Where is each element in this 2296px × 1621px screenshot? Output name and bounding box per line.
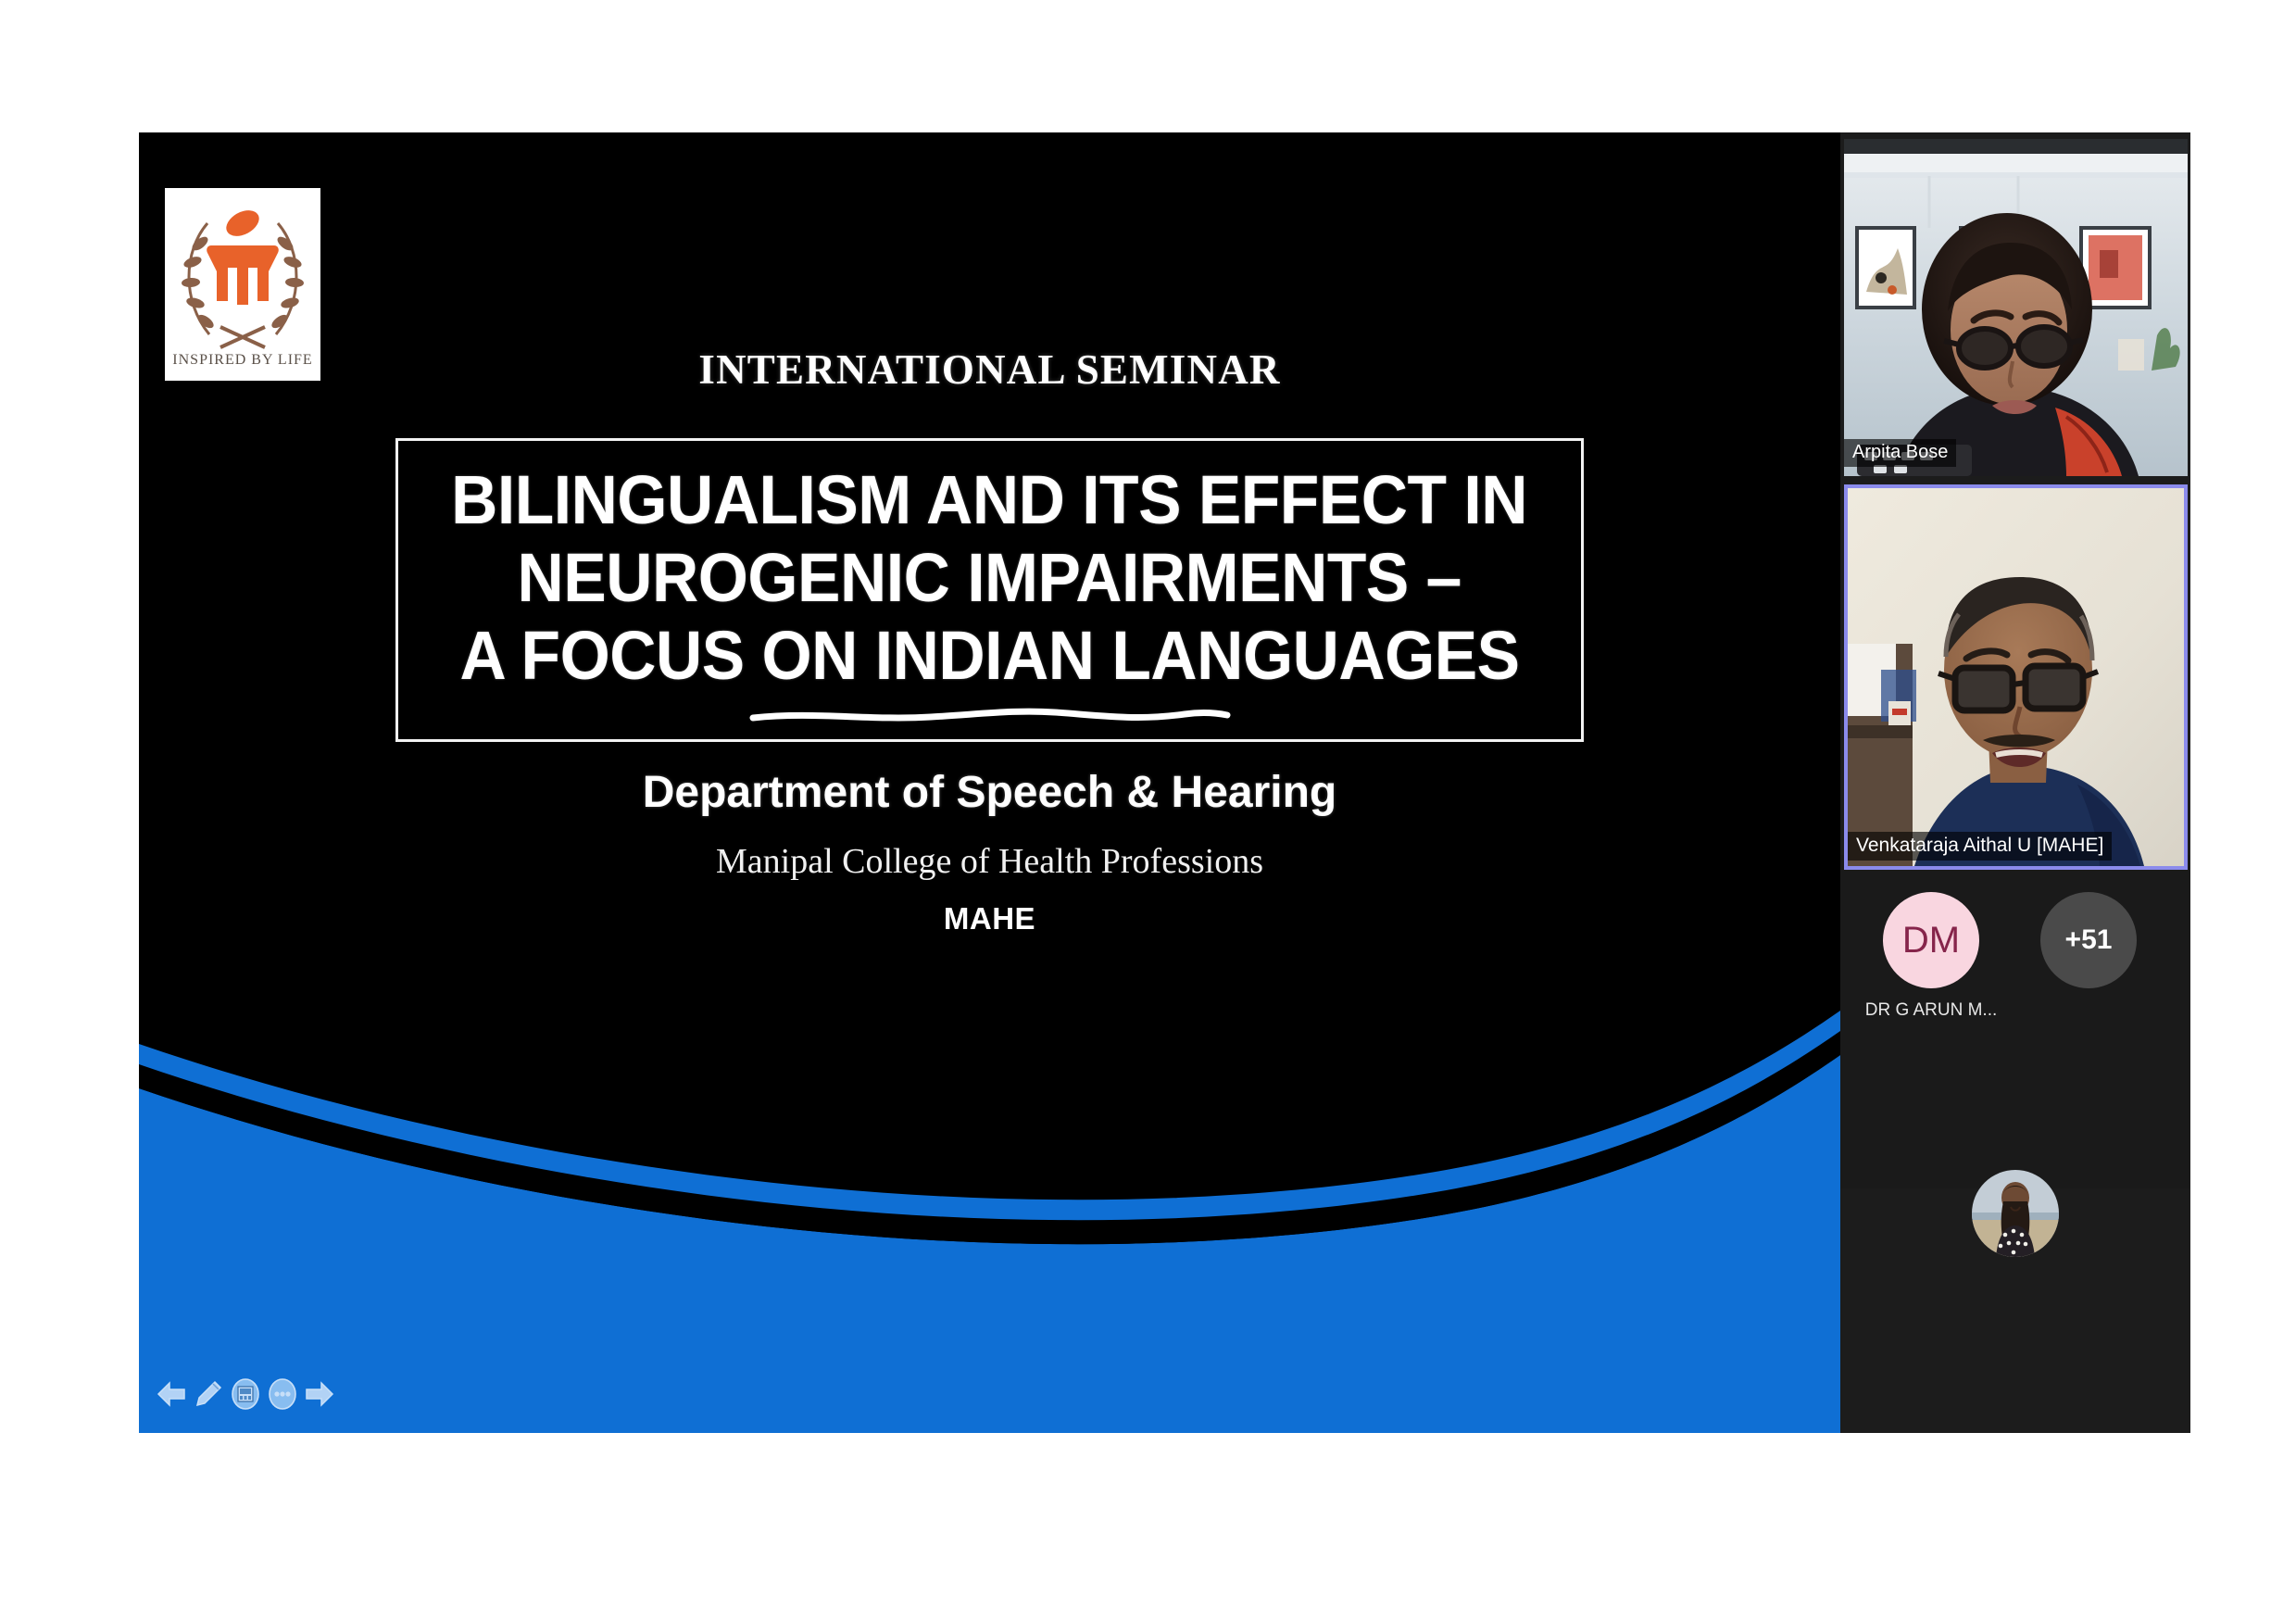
slide-title-line-2: NEUROGENIC IMPAIRMENTS – — [518, 539, 1462, 617]
slide-institution-line: MAHE — [139, 901, 1840, 936]
participant-video-feed — [1844, 139, 2188, 476]
overflow-count-badge: +51 — [2040, 892, 2137, 988]
participant-video-tile-active-speaker[interactable]: Venkataraja Aithal U [MAHE] — [1844, 484, 2188, 870]
title-underline-decoration — [749, 706, 1231, 726]
all-slides-button[interactable] — [228, 1376, 263, 1413]
slide-title-line-3: A FOCUS ON INDIAN LANGUAGES — [459, 617, 1519, 695]
next-slide-button[interactable] — [302, 1376, 337, 1413]
slide-college-line: Manipal College of Health Professions — [139, 841, 1840, 882]
presentation-slide[interactable]: INSPIRED BY LIFE INTERNATIONAL SEMINAR B… — [139, 132, 1840, 1433]
previous-slide-button[interactable] — [154, 1376, 189, 1413]
meeting-stage: INSPIRED BY LIFE INTERNATIONAL SEMINAR B… — [139, 132, 2190, 1433]
participant-avatar-tile[interactable]: DM DR G ARUN M... — [1866, 892, 1996, 1021]
participant-avatar-row: DM DR G ARUN M... +51 — [1840, 892, 2190, 1021]
slide-department-line: Department of Speech & Hearing — [139, 767, 1840, 818]
participant-video-tile[interactable]: Arpita Bose — [1844, 139, 2188, 476]
shared-screen-region[interactable]: INSPIRED BY LIFE INTERNATIONAL SEMINAR B… — [139, 132, 1840, 1433]
slideshow-control-bar[interactable] — [154, 1376, 337, 1413]
slide-wave-decoration — [139, 1007, 1840, 1433]
meeting-screen-capture: INSPIRED BY LIFE INTERNATIONAL SEMINAR B… — [0, 0, 2296, 1621]
participant-photo-avatar[interactable] — [1972, 1170, 2059, 1257]
participant-name-label: Venkataraja Aithal U [MAHE] — [1848, 832, 2112, 861]
participant-name-label: Arpita Bose — [1844, 439, 1956, 467]
participant-video-feed — [1848, 488, 2184, 866]
participant-name-label: DR G ARUN M... — [1865, 1000, 1998, 1021]
overflow-participants-tile[interactable]: +51 — [2024, 892, 2153, 1021]
pen-tool-button[interactable] — [191, 1376, 226, 1413]
more-options-button[interactable] — [265, 1376, 300, 1413]
slide-title-line-1: BILINGUALISM AND ITS EFFECT IN — [452, 461, 1528, 539]
avatar-initials: DM — [1883, 892, 1979, 988]
participant-rail[interactable]: Arpita Bose — [1840, 132, 2190, 1433]
slide-eyebrow-heading: INTERNATIONAL SEMINAR — [139, 346, 1840, 394]
slide-title-box: BILINGUALISM AND ITS EFFECT IN NEUROGENI… — [395, 438, 1584, 742]
